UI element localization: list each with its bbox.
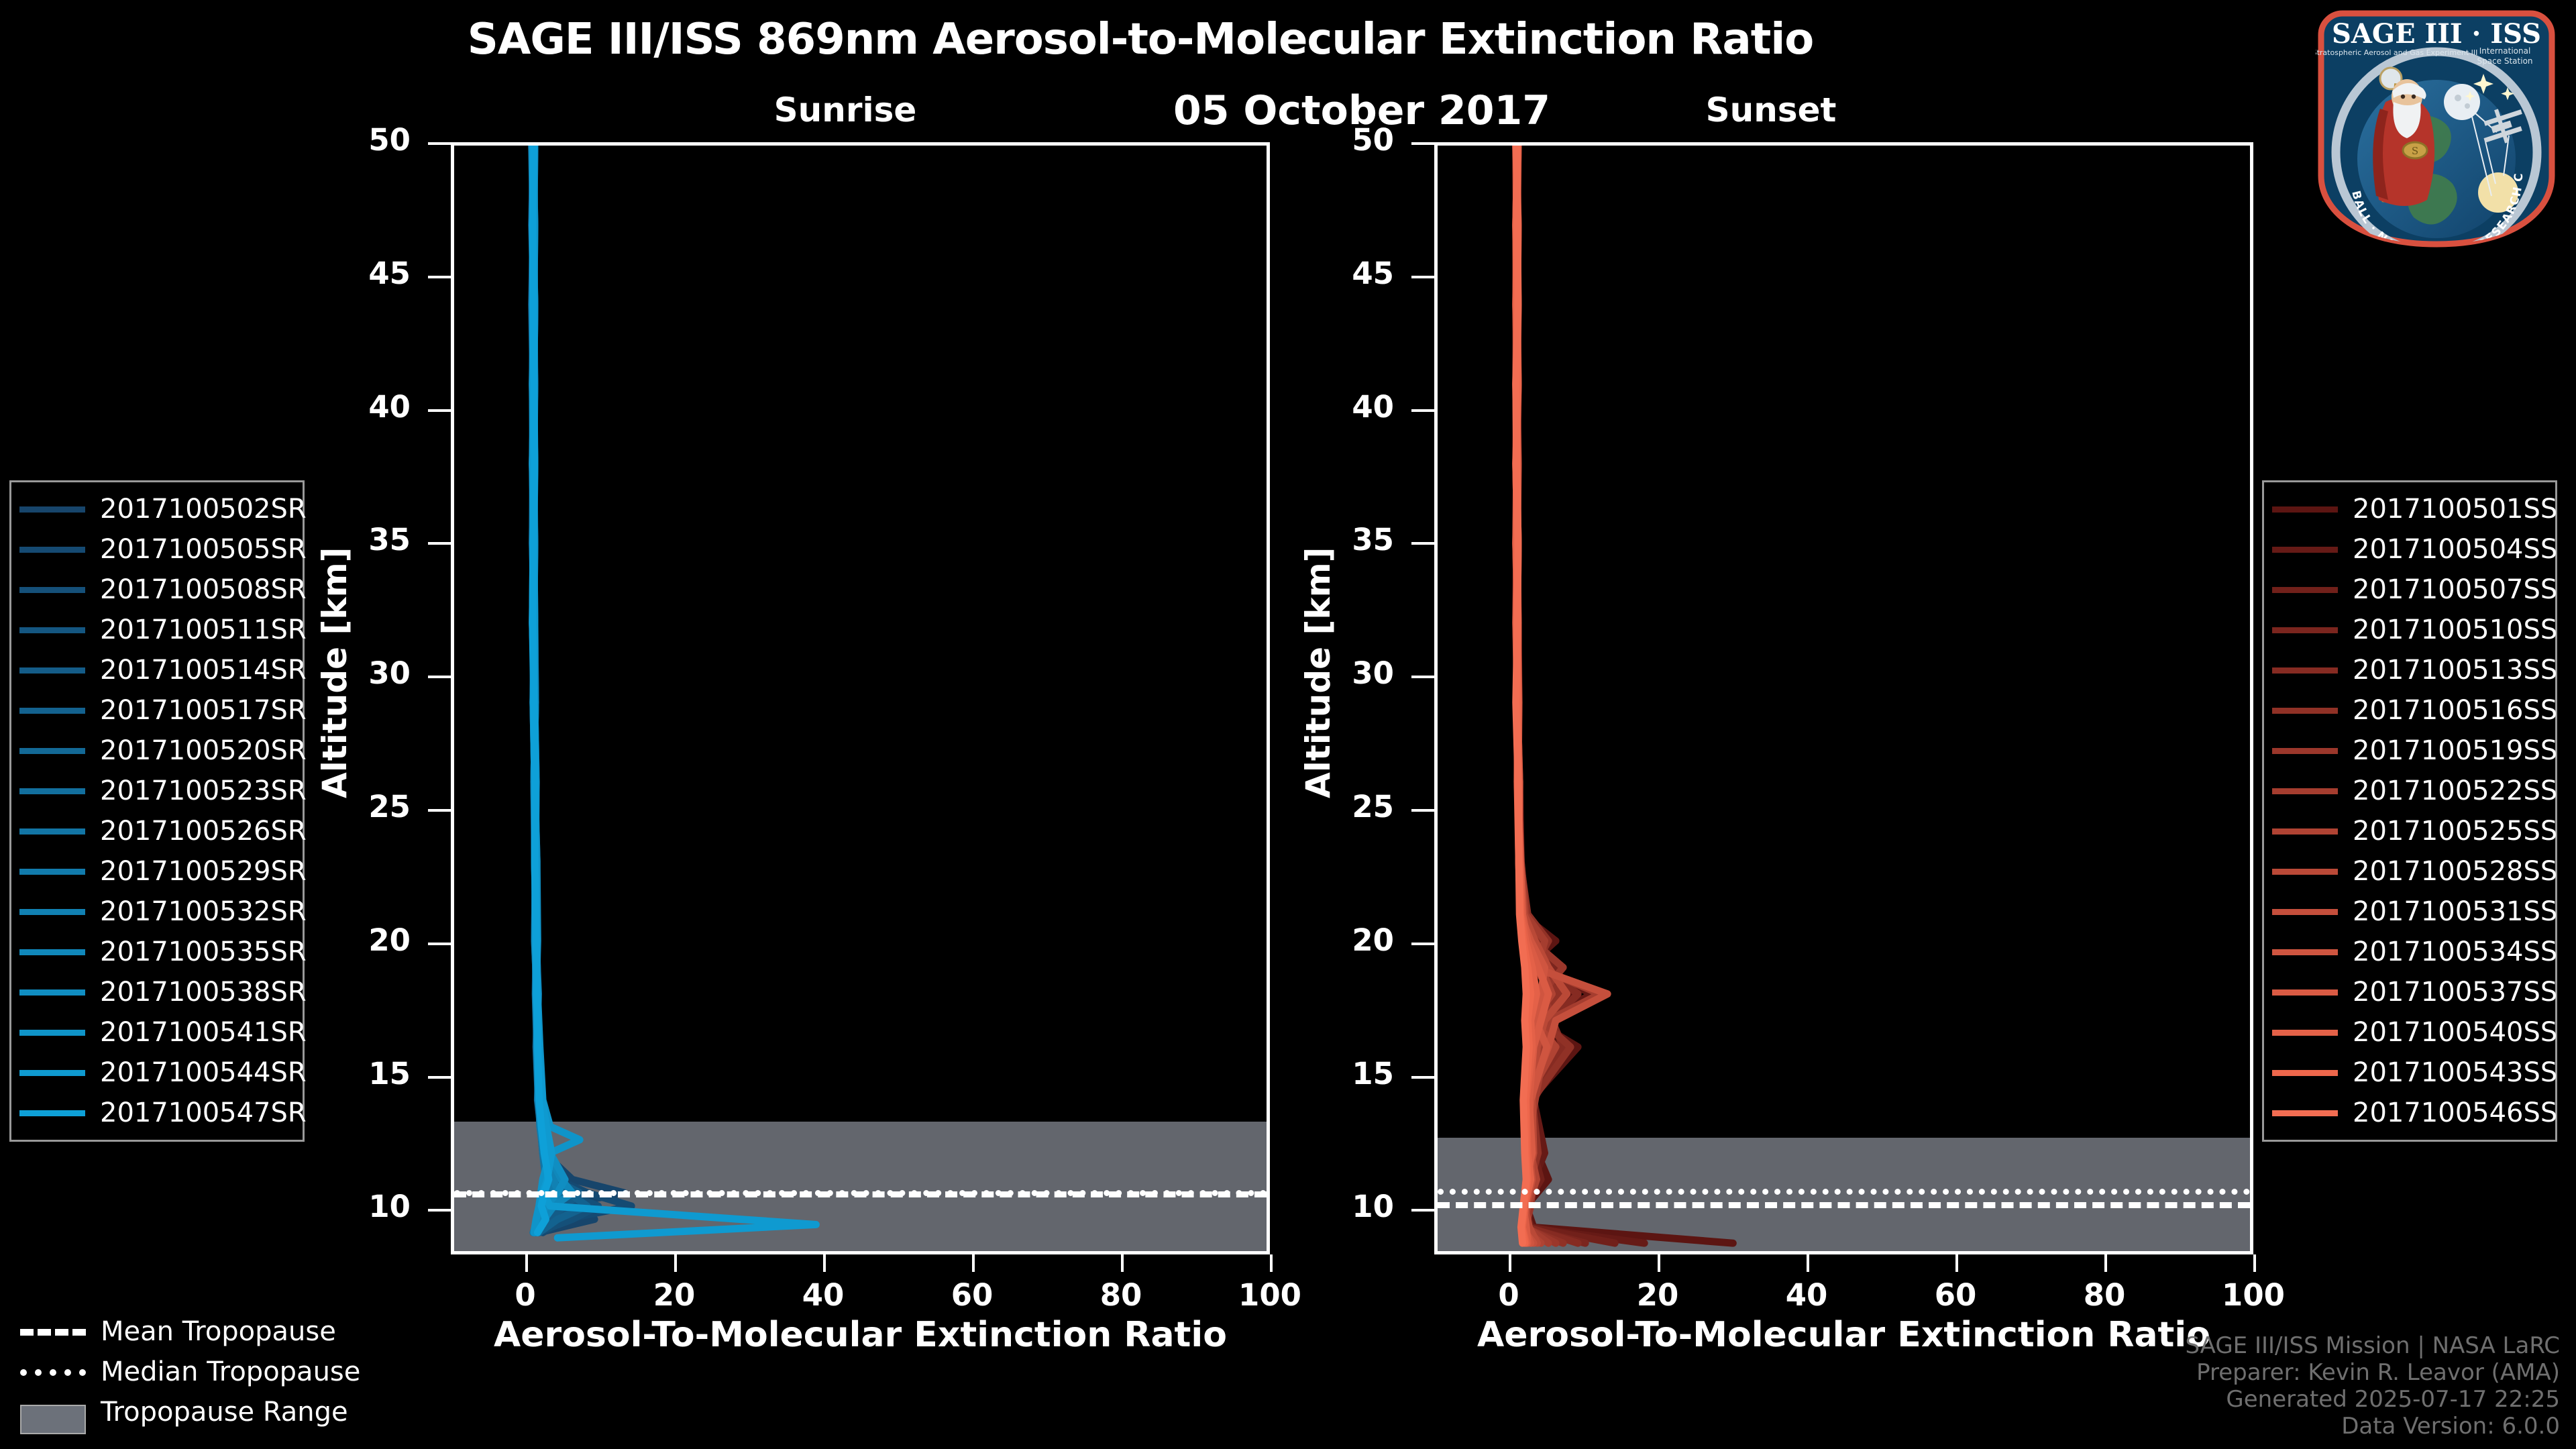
legend-item-label: 2017100513SS [2353,655,2557,686]
tropopause-dotted-mark [20,1369,86,1376]
legend-sunrise-item[interactable]: 2017100520SR [19,731,292,771]
legend-color-swatch [19,828,85,835]
tropopause-key-label: Tropopause Range [101,1397,348,1428]
legend-sunset-item[interactable]: 2017100528SS [2272,851,2544,892]
x-axis-tick-label: 0 [1448,1277,1569,1313]
plot-area-sunset [1434,142,2253,1254]
legend-color-swatch [19,1030,85,1036]
y-axis-tick-label: 50 [310,122,411,158]
y-axis-title-sunset: Altitude [km] [1299,547,1338,798]
legend-sunset-item[interactable]: 2017100531SS [2272,892,2544,932]
legend-sunset-item[interactable]: 2017100546SS [2272,1093,2544,1133]
y-axis-tick [428,943,451,945]
legend-item-label: 2017100520SR [100,735,307,766]
legend-item-label: 2017100534SS [2353,936,2557,967]
legend-sunset-item[interactable]: 2017100507SS [2272,570,2544,610]
tropopause-line-mark [20,1364,86,1379]
tropopause-mean-line [454,1191,1267,1197]
credits-line-generated: Generated 2025-07-17 22:25 [2185,1386,2560,1413]
legend-item-label: 2017100526SR [100,816,307,847]
series-line [533,146,816,1238]
series-line [533,146,624,1232]
legend-sunset-item[interactable]: 2017100513SS [2272,650,2544,690]
x-axis-tick [525,1254,528,1272]
legend-sunrise-item[interactable]: 2017100541SR [19,1012,292,1053]
legend-sunset-item[interactable]: 2017100519SS [2272,731,2544,771]
x-axis-tick-label: 20 [1597,1277,1718,1313]
tropopause-dashed-mark [20,1329,86,1336]
legend-color-swatch [2272,788,2338,794]
legend-color-swatch [19,1110,85,1116]
y-axis-tick-label: 10 [1293,1189,1394,1224]
legend-item-label: 2017100535SR [100,936,307,967]
y-axis-tick [428,409,451,412]
legend-sunrise-item[interactable]: 2017100514SR [19,650,292,690]
x-axis-title-sunrise: Aerosol-To-Molecular Extinction Ratio [451,1315,1270,1355]
legend-color-swatch [2272,506,2338,513]
legend-color-swatch [19,547,85,553]
plot-inner-sunrise [454,146,1267,1251]
legend-sunset-item[interactable]: 2017100540SS [2272,1012,2544,1053]
y-axis-tick [1411,542,1434,545]
legend-sunset-item[interactable]: 2017100525SS [2272,811,2544,851]
tropopause-key: Mean TropopauseMedian TropopauseTropopau… [20,1311,360,1432]
legend-sunset-item[interactable]: 2017100501SS [2272,489,2544,529]
y-axis-tick-label: 15 [310,1056,411,1091]
legend-color-swatch [2272,1110,2338,1116]
legend-sunset-item[interactable]: 2017100543SS [2272,1053,2544,1093]
x-axis-tick-label: 40 [1746,1277,1867,1313]
legend-color-swatch [2272,667,2338,674]
legend-item-label: 2017100517SR [100,695,307,726]
y-axis-tick [1411,1076,1434,1079]
tropopause-key-label: Median Tropopause [101,1356,360,1387]
series-layer [1438,146,2250,1251]
credits-line-preparer: Preparer: Kevin R. Leavor (AMA) [2185,1359,2560,1386]
legend-item-label: 2017100507SS [2353,574,2557,605]
legend-sunrise[interactable]: 2017100502SR2017100505SR2017100508SR2017… [9,480,305,1142]
legend-sunrise-item[interactable]: 2017100517SR [19,690,292,731]
y-axis-tick [1411,142,1434,145]
x-axis-tick-label: 100 [1210,1277,1330,1313]
credits-block: SAGE III/ISS Mission | NASA LaRC Prepare… [2185,1332,2560,1440]
y-axis-tick-label: 15 [1293,1056,1394,1091]
y-axis-tick [1411,409,1434,412]
legend-item-label: 2017100537SS [2353,977,2557,1008]
series-layer [454,146,1267,1251]
logo-subtitle-left: Stratospheric Aerosol and Gas Experiment… [2316,48,2477,57]
panel-label-sunrise: Sunrise [678,91,1013,129]
y-axis-tick [428,542,451,545]
x-axis-tick [1807,1254,1809,1272]
plot-area-sunrise [451,142,1270,1254]
legend-sunset-item[interactable]: 2017100504SS [2272,529,2544,570]
legend-item-label: 2017100547SR [100,1097,307,1128]
legend-sunrise-item[interactable]: 2017100538SR [19,972,292,1012]
legend-item-label: 2017100508SR [100,574,307,605]
legend-color-swatch [2272,1070,2338,1076]
legend-sunrise-item[interactable]: 2017100532SR [19,892,292,932]
legend-color-swatch [19,909,85,915]
legend-color-swatch [2272,828,2338,835]
y-axis-tick [428,1209,451,1212]
y-axis-tick [1411,809,1434,812]
legend-color-swatch [19,788,85,794]
legend-sunrise-item[interactable]: 2017100523SR [19,771,292,811]
legend-sunrise-item[interactable]: 2017100535SR [19,932,292,972]
legend-item-label: 2017100532SR [100,896,307,927]
series-line [533,146,549,1232]
legend-item-label: 2017100504SS [2353,534,2557,565]
legend-color-swatch [19,748,85,754]
legend-item-label: 2017100528SS [2353,856,2557,887]
legend-sunrise-item[interactable]: 2017100508SR [19,570,292,610]
legend-color-swatch [19,627,85,633]
y-axis-tick-label: 50 [1293,122,1394,158]
y-axis-tick-label: 40 [310,389,411,425]
plot-inner-sunset [1438,146,2250,1251]
legend-color-swatch [19,989,85,996]
x-axis-tick [1121,1254,1124,1272]
credits-line-mission: SAGE III/ISS Mission | NASA LaRC [2185,1332,2560,1359]
logo-subtitle-right-2: Space Station [2477,56,2532,66]
legend-item-label: 2017100516SS [2353,695,2557,726]
tropopause-mean-line [1438,1202,2250,1208]
y-axis-tick [1411,943,1434,945]
x-axis-tick-label: 20 [614,1277,735,1313]
tropopause-key-item: Median Tropopause [20,1352,360,1392]
x-axis-tick [2253,1254,2256,1272]
legend-color-swatch [19,1070,85,1076]
legend-color-swatch [2272,627,2338,633]
x-axis-tick [1270,1254,1273,1272]
page-title: SAGE III/ISS 869nm Aerosol-to-Molecular … [0,15,2281,64]
logo-subtitle-right-1: International [2479,46,2531,56]
y-axis-tick [428,1076,451,1079]
legend-item-label: 2017100501SS [2353,494,2557,525]
y-axis-tick-label: 45 [1293,256,1394,291]
legend-item-label: 2017100541SR [100,1017,307,1048]
x-axis-tick [1658,1254,1660,1272]
x-axis-tick [1955,1254,1958,1272]
x-axis-tick-label: 60 [1895,1277,2016,1313]
y-axis-tick-label: 40 [1293,389,1394,425]
legend-sunset-item[interactable]: 2017100537SS [2272,972,2544,1012]
legend-color-swatch [19,708,85,714]
legend-item-label: 2017100502SR [100,494,307,525]
legend-item-label: 2017100531SS [2353,896,2557,927]
legend-item-label: 2017100510SS [2353,614,2557,645]
y-axis-tick [1411,676,1434,678]
legend-item-label: 2017100543SS [2353,1057,2557,1088]
legend-item-label: 2017100505SR [100,534,307,565]
legend-item-label: 2017100544SR [100,1057,307,1088]
legend-item-label: 2017100546SS [2353,1097,2557,1128]
y-axis-tick [428,276,451,278]
legend-color-swatch [19,506,85,513]
x-axis-tick [674,1254,677,1272]
x-axis-tick-label: 60 [912,1277,1032,1313]
legend-color-swatch [19,667,85,674]
legend-item-label: 2017100540SS [2353,1017,2557,1048]
legend-color-swatch [2272,1030,2338,1036]
svg-text:S: S [2412,145,2418,157]
x-axis-tick-label: 80 [1061,1277,1181,1313]
y-axis-tick [428,142,451,145]
legend-sunset-item[interactable]: 2017100534SS [2272,932,2544,972]
legend-sunset-item[interactable]: 2017100522SS [2272,771,2544,811]
legend-color-swatch [2272,587,2338,593]
legend-color-swatch [19,949,85,955]
logo-title-text: SAGE III · ISS [2332,18,2541,50]
legend-color-swatch [2272,909,2338,915]
legend-item-label: 2017100522SS [2353,775,2557,806]
legend-sunrise-item[interactable]: 2017100526SR [19,811,292,851]
legend-color-swatch [2272,748,2338,754]
y-axis-title-sunrise: Altitude [km] [315,547,354,798]
y-axis-tick-label: 20 [310,922,411,958]
y-axis-tick-label: 10 [310,1189,411,1224]
legend-sunset-item[interactable]: 2017100510SS [2272,610,2544,650]
legend-item-label: 2017100514SR [100,655,307,686]
x-axis-tick [2104,1254,2107,1272]
tropopause-median-line [1438,1189,2250,1195]
y-axis-tick [428,676,451,678]
panel-label-sunset: Sunset [1603,91,1939,129]
x-axis-tick-label: 80 [2044,1277,2165,1313]
legend-color-swatch [19,869,85,875]
mission-patch-icon: S BALL · NASA LANGLEY RESEARCH CENTER · … [2316,8,2557,250]
legend-item-label: 2017100511SR [100,614,307,645]
legend-color-swatch [2272,708,2338,714]
legend-item-label: 2017100538SR [100,977,307,1008]
credits-line-version: Data Version: 6.0.0 [2185,1413,2560,1440]
tropopause-line-mark [20,1324,86,1339]
x-axis-title-sunset: Aerosol-To-Molecular Extinction Ratio [1434,1315,2253,1355]
tropopause-key-item: Tropopause Range [20,1392,360,1432]
legend-sunrise-item[interactable]: 2017100544SR [19,1053,292,1093]
legend-sunrise-item[interactable]: 2017100505SR [19,529,292,570]
legend-item-label: 2017100525SS [2353,816,2557,847]
legend-sunrise-item[interactable]: 2017100529SR [19,851,292,892]
x-axis-tick-label: 0 [465,1277,586,1313]
y-axis-tick [1411,276,1434,278]
series-line [533,146,631,1232]
legend-item-label: 2017100523SR [100,775,307,806]
legend-sunset-item[interactable]: 2017100516SS [2272,690,2544,731]
legend-sunset[interactable]: 2017100501SS2017100504SS2017100507SS2017… [2262,480,2557,1142]
x-axis-tick [972,1254,975,1272]
legend-color-swatch [2272,547,2338,553]
x-axis-tick-label: 100 [2193,1277,2314,1313]
legend-color-swatch [2272,949,2338,955]
legend-color-swatch [2272,989,2338,996]
x-axis-tick [1509,1254,1511,1272]
legend-sunrise-item[interactable]: 2017100547SR [19,1093,292,1133]
tropopause-key-item: Mean Tropopause [20,1311,360,1352]
legend-color-swatch [19,587,85,593]
legend-item-label: 2017100519SS [2353,735,2557,766]
legend-item-label: 2017100529SR [100,856,307,887]
tropopause-range-mark [20,1405,86,1419]
y-axis-tick [428,809,451,812]
legend-color-swatch [2272,869,2338,875]
tropopause-range-swatch [20,1405,86,1434]
sage-iii-iss-mission-patch-logo: S BALL · NASA LANGLEY RESEARCH CENTER · … [2316,8,2557,250]
y-axis-tick-label: 20 [1293,922,1394,958]
x-axis-tick [823,1254,826,1272]
legend-sunrise-item[interactable]: 2017100511SR [19,610,292,650]
y-axis-tick [1411,1209,1434,1212]
x-axis-tick-label: 40 [763,1277,883,1313]
legend-sunrise-item[interactable]: 2017100502SR [19,489,292,529]
tropopause-key-label: Mean Tropopause [101,1316,336,1347]
y-axis-tick-label: 45 [310,256,411,291]
